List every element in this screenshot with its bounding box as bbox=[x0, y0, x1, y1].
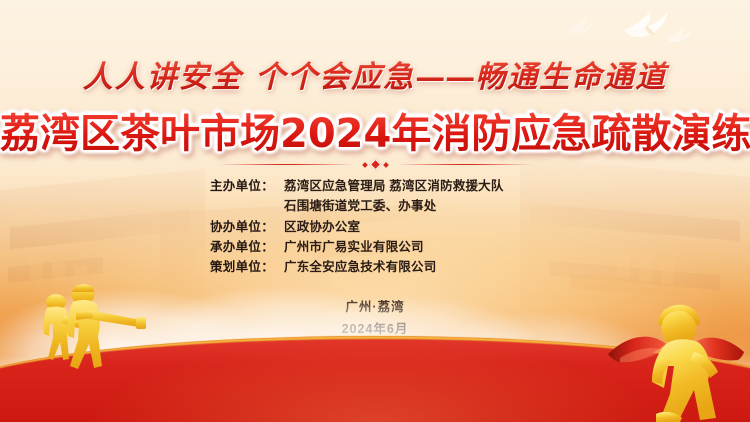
poster-main-title: 荔湾区茶叶市场2024年消防应急疏散演练 bbox=[0, 101, 750, 159]
organizer-list: 主办单位： 荔湾区应急管理局 荔湾区消防救援大队 石围塘街道党工委、办事处 协办… bbox=[0, 176, 750, 277]
divider-rule-right bbox=[397, 164, 532, 166]
organizer-label: 主办单位： bbox=[210, 176, 284, 196]
poster-subtitle: 人人讲安全 个个会应急——畅通生命通道 bbox=[0, 52, 750, 96]
divider-ornament bbox=[363, 160, 388, 169]
organizer-row: 策划单位： 广东全安应急技术有限公司 bbox=[210, 257, 540, 277]
place-date-block: 广州·荔湾 2024年6月 bbox=[0, 297, 750, 341]
subtitle-part2: 畅通生命通道 bbox=[475, 60, 667, 95]
divider-diamond-icon bbox=[369, 158, 382, 171]
subtitle-dash: —— bbox=[415, 60, 475, 95]
organizer-row: 协办单位： 区政协办公室 bbox=[210, 217, 540, 237]
subtitle-part1: 人人讲安全 个个会应急 bbox=[83, 60, 415, 95]
organizer-value-line2: 石围塘街道党工委、办事处 bbox=[284, 196, 436, 216]
organizer-row: 承办单位： 广州市广易实业有限公司 bbox=[210, 237, 540, 257]
organizer-value: 荔湾区应急管理局 荔湾区消防救援大队 bbox=[284, 176, 504, 196]
organizer-row-continued: 石围塘街道党工委、办事处 bbox=[210, 196, 540, 216]
organizer-row: 主办单位： 荔湾区应急管理局 荔湾区消防救援大队 bbox=[210, 176, 540, 196]
diamond-divider bbox=[0, 160, 750, 169]
organizer-value: 广州市广易实业有限公司 bbox=[284, 237, 424, 257]
dove-icon bbox=[564, 14, 598, 36]
organizer-value: 区政协办公室 bbox=[284, 217, 360, 237]
divider-dot-icon bbox=[383, 162, 389, 168]
poster-banner: 人人讲安全 个个会应急——畅通生命通道 荔湾区茶叶市场2024年消防应急疏散演练… bbox=[0, 0, 750, 422]
dove-icon bbox=[620, 6, 672, 40]
organizer-label: 协办单位： bbox=[210, 217, 284, 237]
organizer-label-spacer bbox=[210, 196, 284, 216]
gold-ground-edge bbox=[0, 336, 750, 422]
divider-rule-left bbox=[219, 164, 354, 166]
organizer-label: 承办单位： bbox=[210, 237, 284, 257]
divider-dot-icon bbox=[362, 162, 368, 168]
dove-icon bbox=[664, 24, 694, 44]
organizer-value: 广东全安应急技术有限公司 bbox=[284, 257, 436, 277]
place-text: 广州·荔湾 bbox=[0, 297, 750, 319]
organizer-label: 策划单位： bbox=[210, 257, 284, 277]
